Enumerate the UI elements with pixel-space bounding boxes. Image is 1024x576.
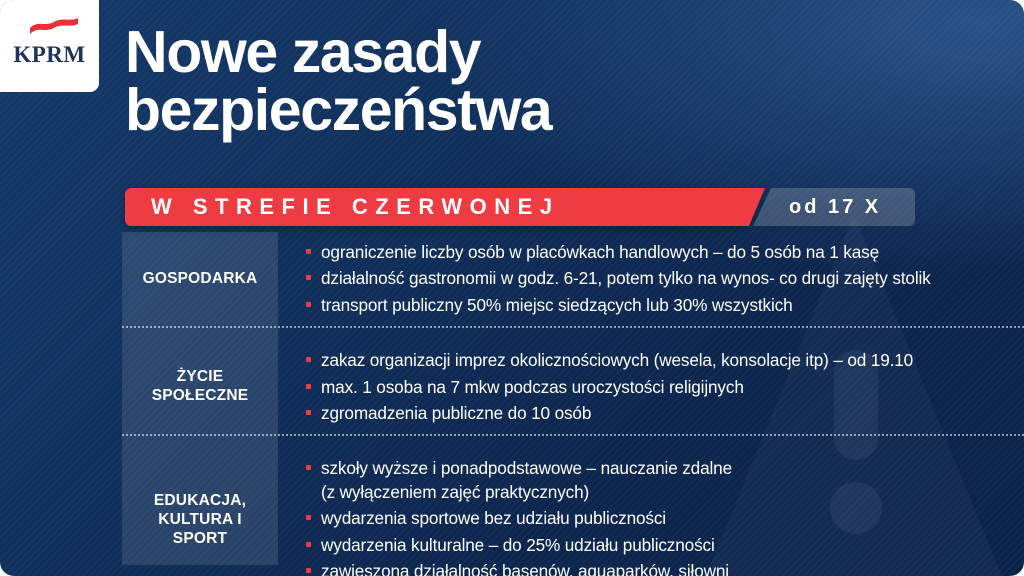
list-item: wydarzenia kulturalne – do 25% udziału p… bbox=[321, 534, 1024, 557]
section-separator bbox=[122, 326, 1024, 340]
table-row: EDUKACJA, KULTURA I SPORTszkoły wyższe i… bbox=[122, 448, 1024, 576]
kprm-logo: KPRM bbox=[0, 0, 99, 92]
list-item-text: transport publiczny 50% miejsc siedzącyc… bbox=[321, 295, 793, 315]
bullet-icon bbox=[306, 542, 311, 547]
bullet-icon bbox=[306, 515, 311, 520]
list-item: ograniczenie liczby osób w placówkach ha… bbox=[321, 241, 1024, 264]
page-title: Nowe zasady bezpieczeństwa bbox=[125, 24, 905, 140]
table-row: ŻYCIE SPOŁECZNEzakaz organizacji imprez … bbox=[122, 340, 1024, 434]
rules-table: GOSPODARKAograniczenie liczby osób w pla… bbox=[122, 232, 1024, 576]
zone-date-label: od 17 X bbox=[753, 196, 881, 219]
list-item: zakaz organizacji imprez okolicznościowy… bbox=[321, 349, 1024, 372]
list-item: transport publiczny 50% miejsc siedzącyc… bbox=[321, 294, 1024, 317]
table-row: GOSPODARKAograniczenie liczby osób w pla… bbox=[122, 232, 1024, 326]
headline-line-1: Nowe zasady bbox=[125, 19, 480, 85]
bullet-icon bbox=[306, 302, 311, 307]
list-item: zawieszona działalność basenów, aquapark… bbox=[321, 560, 1024, 576]
list-item: wydarzenia sportowe bez udziału publiczn… bbox=[321, 507, 1024, 530]
rule-list: szkoły wyższe i ponadpodstawowe – naucza… bbox=[278, 448, 1024, 576]
zone-label: W STREFIE CZERWONEJ bbox=[125, 194, 560, 220]
headline-line-2: bezpieczeństwa bbox=[125, 82, 905, 140]
bullet-icon bbox=[306, 249, 311, 254]
list-item: zgromadzenia publiczne do 10 osób bbox=[321, 402, 1024, 425]
infographic-poster: KPRM Nowe zasady bezpieczeństwa W STREFI… bbox=[0, 0, 1024, 576]
bullet-icon bbox=[306, 568, 311, 573]
category-label: GOSPODARKA bbox=[122, 232, 278, 326]
list-item-text: wydarzenia sportowe bez udziału publiczn… bbox=[321, 508, 666, 528]
rule-list: zakaz organizacji imprez okolicznościowy… bbox=[278, 340, 1024, 434]
category-label: EDUKACJA, KULTURA I SPORT bbox=[122, 448, 278, 576]
list-item-text: wydarzenia kulturalne – do 25% udziału p… bbox=[321, 535, 715, 555]
section-separator bbox=[122, 434, 1024, 448]
bullet-icon bbox=[306, 357, 311, 362]
list-item: szkoły wyższe i ponadpodstawowe – naucza… bbox=[321, 457, 1024, 504]
zone-banner: W STREFIE CZERWONEJ od 17 X bbox=[125, 188, 915, 226]
list-item: działalność gastronomii w godz. 6-21, po… bbox=[321, 267, 1024, 290]
bullet-icon bbox=[306, 465, 311, 470]
kprm-logo-text: KPRM bbox=[0, 42, 99, 68]
polish-flag-icon bbox=[28, 16, 80, 38]
bullet-icon bbox=[306, 384, 311, 389]
bullet-icon bbox=[306, 275, 311, 280]
category-label: ŻYCIE SPOŁECZNE bbox=[122, 340, 278, 434]
list-item-text: zakaz organizacji imprez okolicznościowy… bbox=[321, 350, 913, 370]
list-item: max. 1 osoba na 7 mkw podczas uroczystoś… bbox=[321, 376, 1024, 399]
list-item-text: szkoły wyższe i ponadpodstawowe – naucza… bbox=[321, 458, 732, 501]
list-item-text: max. 1 osoba na 7 mkw podczas uroczystoś… bbox=[321, 377, 744, 397]
rule-list: ograniczenie liczby osób w placówkach ha… bbox=[278, 232, 1024, 326]
list-item-text: ograniczenie liczby osób w placówkach ha… bbox=[321, 242, 879, 262]
list-item-text: działalność gastronomii w godz. 6-21, po… bbox=[321, 268, 931, 288]
bullet-icon bbox=[306, 410, 311, 415]
zone-banner-date: od 17 X bbox=[753, 188, 915, 226]
zone-banner-red: W STREFIE CZERWONEJ bbox=[125, 188, 765, 226]
list-item-text: zgromadzenia publiczne do 10 osób bbox=[321, 403, 591, 423]
list-item-text: zawieszona działalność basenów, aquapark… bbox=[321, 561, 729, 576]
